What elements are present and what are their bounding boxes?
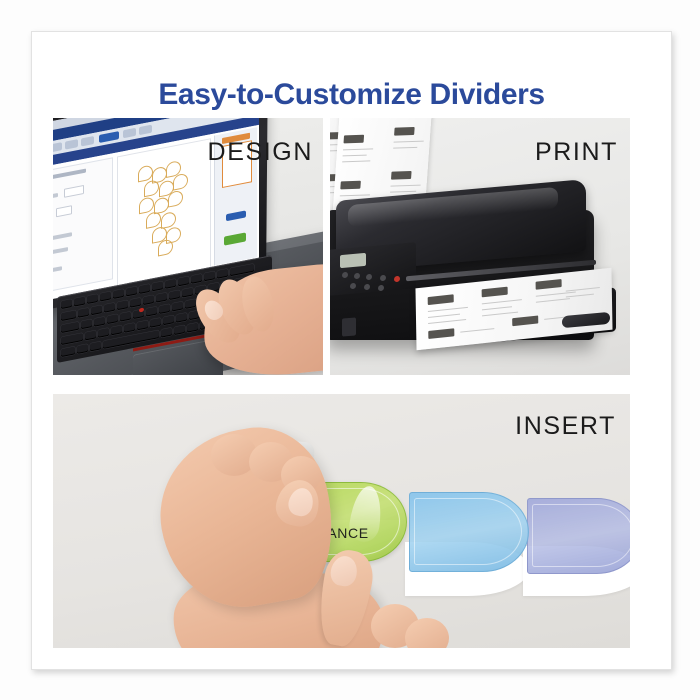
document-preview (117, 138, 211, 290)
design-form-pane (53, 157, 113, 296)
ribbon-button (139, 125, 152, 136)
sidebar-button (226, 210, 246, 221)
purple-tab-inner-edge (532, 504, 630, 567)
page-title: Easy-to-Customize Dividers (32, 78, 671, 112)
ribbon-button (99, 131, 119, 143)
step-label-design: DESIGN (208, 138, 313, 167)
printer-lcd-display (340, 253, 366, 268)
ribbon-button (65, 139, 78, 150)
form-title-placeholder (53, 168, 86, 179)
blue-tab (409, 492, 529, 572)
ribbon-button (81, 136, 94, 147)
content-card: Easy-to-Customize Dividers (31, 31, 672, 670)
step-label-insert: INSERT (515, 412, 616, 441)
blue-tab-inner-edge (414, 498, 522, 565)
form-label (53, 247, 68, 258)
form-label (53, 232, 72, 244)
printer-control-panel (330, 242, 416, 296)
step-panel-insert: FINANCE INSERT (53, 394, 630, 648)
sidebar-action-button (224, 232, 246, 245)
step-label-print: PRINT (535, 138, 618, 167)
printer-front-panel-door (342, 317, 356, 336)
form-input (56, 205, 72, 217)
form-label (53, 266, 62, 276)
step-panel-print: PRINT (330, 118, 630, 375)
form-input (64, 185, 84, 198)
form-label (53, 193, 58, 202)
ribbon-button (53, 142, 62, 153)
purple-tab (527, 498, 630, 574)
floral-artwork (136, 157, 192, 256)
ribbon-button (123, 128, 136, 139)
product-feature-image: Easy-to-Customize Dividers (0, 0, 700, 700)
step-panel-design: DESIGN (53, 118, 323, 375)
